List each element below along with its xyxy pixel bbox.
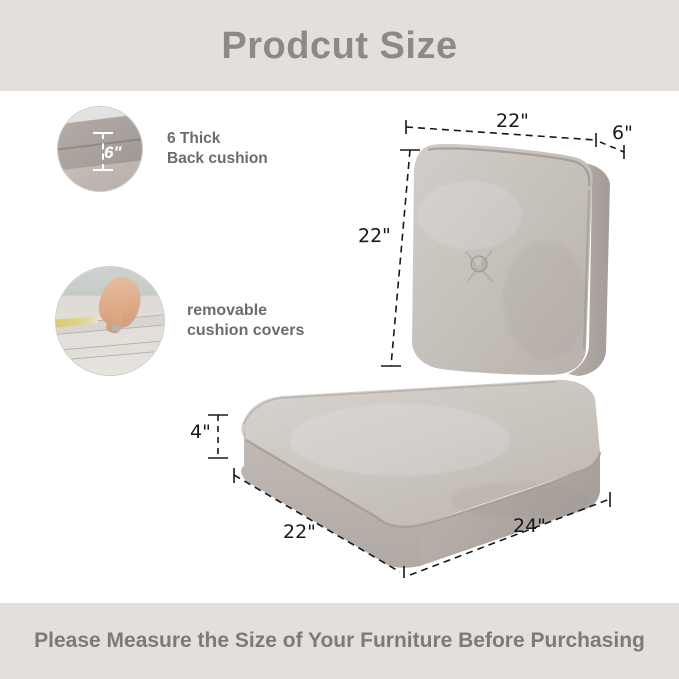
- product-size-infographic: Prodcut Size: [0, 0, 679, 679]
- footer-message: Please Measure the Size of Your Furnitur…: [30, 628, 650, 655]
- dimension-seat-width-label: 22": [283, 521, 316, 543]
- feature-back-cushion-thickness: 6" 6 Thick Back cushion: [57, 106, 268, 192]
- cushion-edge-photo-icon: 6": [57, 106, 143, 192]
- dimension-seat-depth-label: 24": [513, 515, 546, 537]
- inset-thickness-caption: 6": [104, 143, 122, 163]
- dim-line-back-height: [391, 150, 410, 366]
- dimension-back-height-label: 22": [358, 225, 391, 248]
- feature-label-removable-covers: removable cushion covers: [187, 301, 304, 341]
- hand-unzipping-cover-photo-icon: [55, 266, 165, 376]
- dimension-back-width-label: 22": [496, 110, 529, 132]
- feature-removable-covers: removable cushion covers: [55, 266, 304, 376]
- dimension-back-depth-label: 6": [612, 122, 633, 144]
- feature-label-back-cushion-thickness: 6 Thick Back cushion: [167, 129, 268, 168]
- dimension-seat-thickness-label: 4": [190, 421, 211, 443]
- footer-banner: Please Measure the Size of Your Furnitur…: [0, 603, 679, 679]
